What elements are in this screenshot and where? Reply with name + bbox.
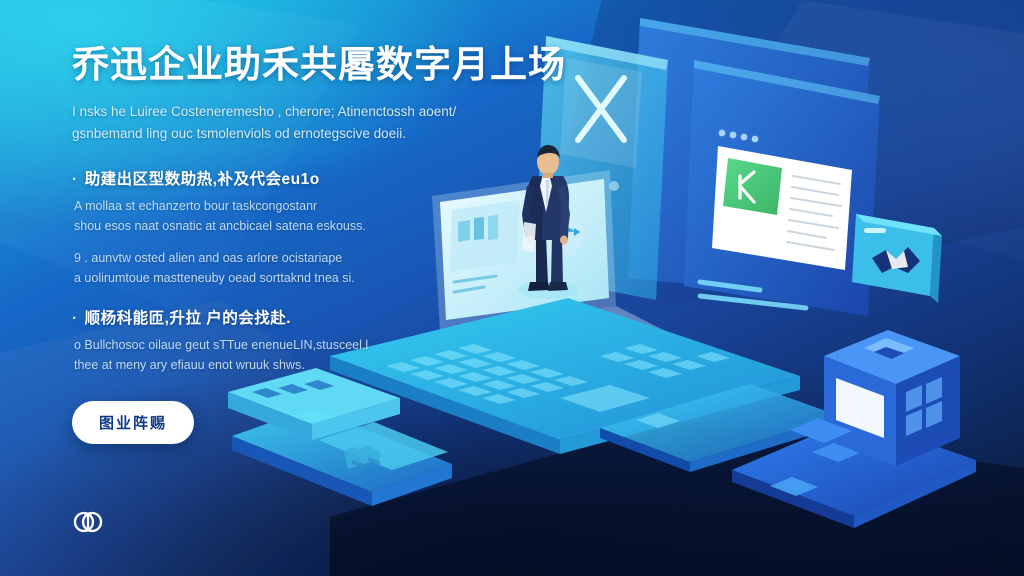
bullet-1-heading-text: 助建出区型数助热,补及代会eu1o (85, 171, 320, 188)
bullet-3: ·顺杨科能匝,升拉 户的会找赴. o Bullchosoc oilaue geu… (72, 306, 542, 375)
bullet-1: ·助建出区型数助热,补及代会eu1o A mollaa st echanzert… (72, 167, 542, 288)
interlocking-circles-logo-icon (70, 504, 106, 540)
bullet-2-body-line-1: 9 . aunvtw osted alien and oas arlore oc… (74, 248, 542, 268)
text-column: 乔迅企业助禾共厬数字月上场 I nsks he Luiree Costenere… (72, 44, 542, 444)
bullet-3-heading-text: 顺杨科能匝,升拉 户的会找赴. (85, 310, 291, 327)
bullet-3-body: o Bullchosoc oilaue geut sTTue enenueLIN… (72, 335, 542, 375)
subtitle-line-1: I nsks he Luiree Costeneremesho , cheror… (72, 101, 542, 123)
page-title: 乔迅企业助禾共厬数字月上场 (72, 44, 542, 87)
bullet-3-body-line-2: thee at meny ary efiauu enot wruuk shws. (74, 355, 542, 375)
bullet-1-body-line-2: shou esos naat osnatic at ancbicael sate… (74, 216, 542, 236)
bullet-marker-icon: · (72, 171, 78, 189)
bullet-2-body-line-2: a uolirumtoue mastteneuby oead sorttaknd… (74, 268, 542, 288)
page-subtitle: I nsks he Luiree Costeneremesho , cheror… (72, 101, 542, 146)
cta-button[interactable]: 图业阵赐 (72, 401, 194, 444)
bullet-3-heading: ·顺杨科能匝,升拉 户的会找赴. (72, 306, 542, 328)
bullet-2-body: 9 . aunvtw osted alien and oas arlore oc… (72, 248, 542, 288)
subtitle-line-2: gsnbemand ling ouc tsmolenviols od ernot… (72, 123, 542, 145)
bullet-1-body: A mollaa st echanzerto bour taskcongosta… (72, 196, 542, 236)
panel-card (684, 60, 880, 316)
bullet-1-heading: ·助建出区型数助热,补及代会eu1o (72, 167, 542, 189)
bullet-3-body-line-1: o Bullchosoc oilaue geut sTTue enenueLIN… (74, 335, 542, 355)
bullet-marker-icon-2: · (72, 310, 78, 328)
banner-stage: 乔迅企业助禾共厬数字月上场 I nsks he Luiree Costenere… (0, 0, 1024, 576)
bullet-1-body-line-1: A mollaa st echanzerto bour taskcongosta… (74, 196, 542, 216)
